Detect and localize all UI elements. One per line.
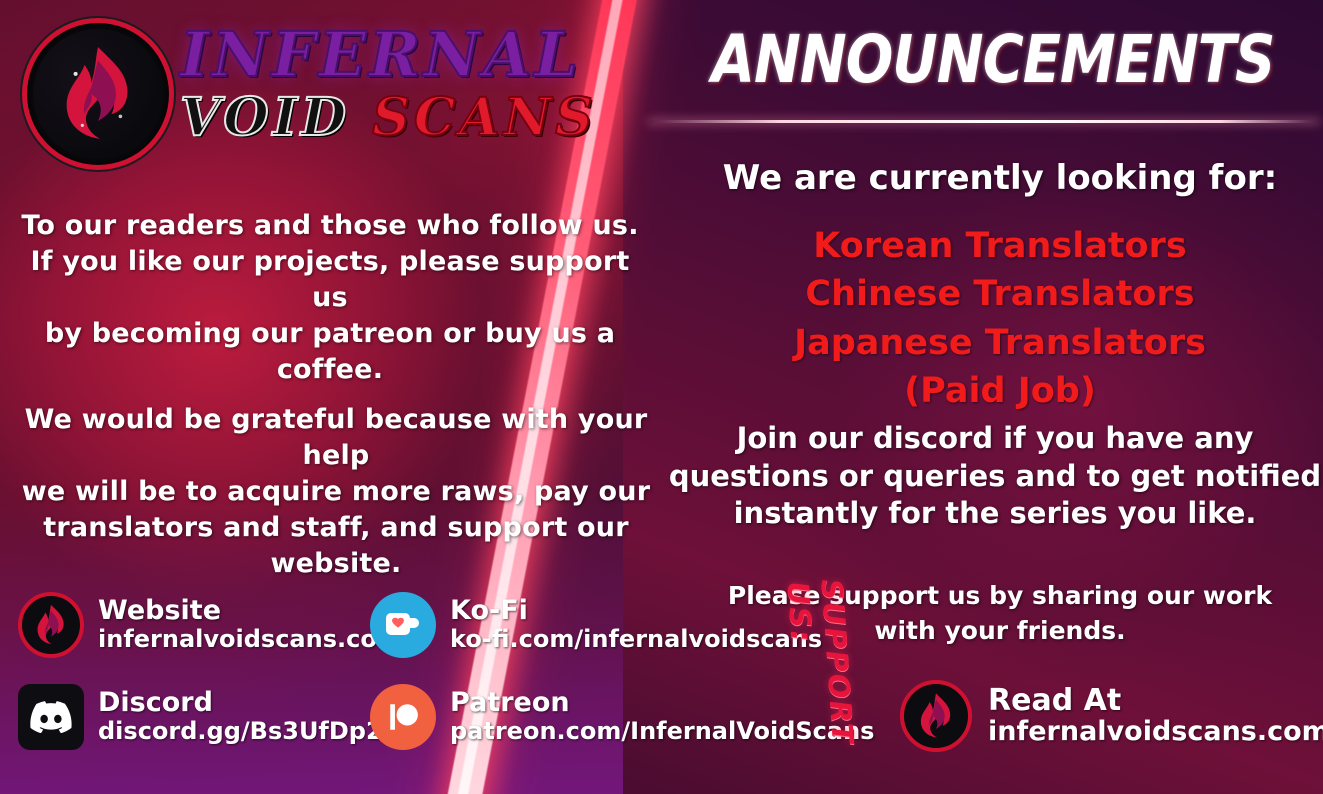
announcement-poster: INFERNAL VOID SCANS To our readers and t…	[0, 0, 1323, 794]
contact-value: infernalvoidscans.com	[98, 626, 402, 653]
discord-note: Join our discord if you have any questio…	[660, 420, 1323, 533]
flame-logo-icon	[18, 592, 84, 658]
support-paragraph-1: To our readers and those who follow us. …	[10, 208, 650, 388]
patreon-icon	[370, 684, 436, 750]
looking-for-heading: We are currently looking for:	[680, 158, 1320, 198]
patreon-glyph-icon	[386, 700, 420, 734]
read-at-value: infernalvoidscans.com	[988, 717, 1323, 747]
support-paragraph-2: We would be grateful because with your h…	[6, 402, 666, 582]
contact-website[interactable]: Website infernalvoidscans.com	[18, 592, 402, 658]
flame-logo-icon	[900, 680, 972, 752]
brand-word-scans: SCANS	[372, 87, 596, 148]
flame-glyph-icon	[42, 38, 154, 150]
read-at-title: Read At	[988, 685, 1323, 717]
contact-discord[interactable]: Discord discord.gg/Bs3UfDp2Kf	[18, 684, 412, 750]
kofi-cup-icon	[370, 592, 436, 658]
kofi-cup-glyph-icon	[383, 608, 423, 642]
read-at-block[interactable]: Read At infernalvoidscans.com	[900, 680, 1323, 752]
flame-logo-icon	[22, 18, 174, 170]
flame-glyph-icon	[909, 689, 963, 743]
flame-glyph-icon	[27, 601, 75, 649]
discord-icon	[18, 684, 84, 750]
title-underline	[648, 120, 1320, 123]
brand-line-void-scans: VOID SCANS	[180, 91, 610, 146]
page-title: ANNOUNCEMENTS	[668, 22, 1318, 99]
brand-word-void: VOID	[180, 87, 350, 148]
brand-line-infernal: INFERNAL	[180, 22, 610, 87]
discord-glyph-icon	[30, 701, 72, 733]
roles-list: Korean Translators Chinese Translators J…	[680, 222, 1320, 415]
contact-title: Discord	[98, 689, 412, 718]
brand-wordmark: INFERNAL VOID SCANS	[180, 22, 610, 146]
contact-title: Website	[98, 597, 402, 626]
contact-value: discord.gg/Bs3UfDp2Kf	[98, 718, 412, 745]
